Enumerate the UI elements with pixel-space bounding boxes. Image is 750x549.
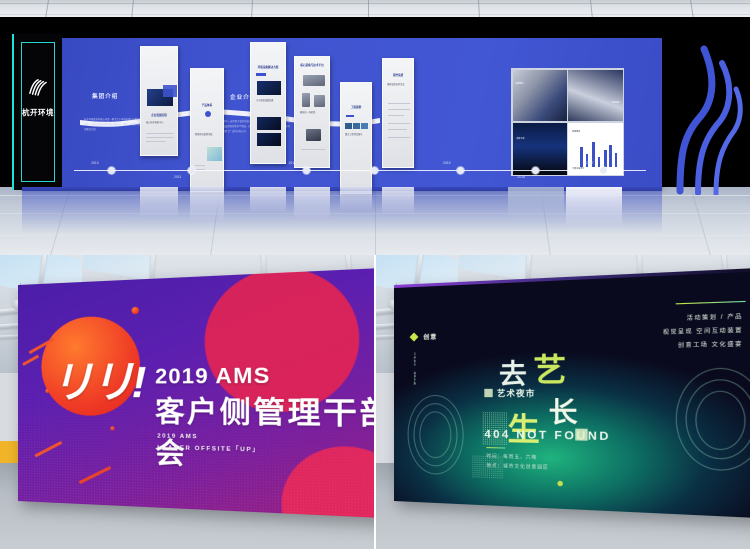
media-cell-4: 数据报表 年度业绩增长 xyxy=(568,123,622,175)
banner-left: リリ! 2019 AMS 客户侧管理干部会 2019 AMS LEADER OF… xyxy=(18,267,374,518)
content-panel-5-title: 工程案例 xyxy=(341,105,371,109)
banner-right-tag-swatch xyxy=(484,389,492,397)
content-panel-4: 核心装备与技术平台 模块化一体机组 xyxy=(294,56,330,168)
content-panel-2-title: 产品体系 xyxy=(191,103,223,107)
content-panel-5: 工程案例 重点工程项目展示 xyxy=(340,82,372,194)
timeline-year: 2017 xyxy=(586,161,594,165)
timeline-dot xyxy=(457,167,464,174)
media-grid: 品牌视觉 活动现场 夜景工程 数据报表 年度业绩增长 xyxy=(511,68,624,176)
media-cell-2-caption: 活动现场 xyxy=(611,102,619,105)
brand-logo-panel: 杭开环境 xyxy=(12,34,62,190)
banner-right-contour-c xyxy=(419,411,451,458)
banner-right-corner-line2: 视觉呈现 空间互动装置 xyxy=(663,326,743,336)
banner-right-accent-dot xyxy=(557,481,563,487)
media-cell-1-caption: 品牌视觉 xyxy=(516,83,524,86)
content-panel-3-caption: 污水处理成套装备 xyxy=(256,99,282,103)
showroom-floor xyxy=(0,187,750,255)
banner-right-corner-line3: 创意工场 文化盛宴 xyxy=(678,340,743,349)
content-panel-3: 环保设备解决方案 污水处理成套装备 xyxy=(250,42,286,164)
wave-sculpture xyxy=(670,43,744,195)
timeline-dot xyxy=(108,167,115,174)
timeline-dot xyxy=(532,167,539,174)
timeline-year: 2011 xyxy=(174,175,181,179)
media-cell-3-caption: 夜景工程 xyxy=(517,138,525,141)
banner-left-dot-tiny-a xyxy=(45,389,49,393)
content-panel-6-title: 荣誉资质 xyxy=(383,73,413,77)
content-panel-6: 荣誉资质 国家高新技术企业 xyxy=(382,58,414,168)
banner-left-surface: リリ! 2019 AMS 客户侧管理干部会 2019 AMS LEADER OF… xyxy=(18,267,374,518)
banner-right-surface: 活动策划 / 产品 视觉呈现 空间互动装置 创意工场 文化盛宴 创意 艺术夜市 … xyxy=(394,267,750,518)
banner-right-title-char-1: 去 xyxy=(499,353,527,392)
banner-right-foot-rule xyxy=(486,447,505,448)
content-panel-2: 产品体系 智能环境监测系统 xyxy=(190,68,224,192)
hall-right: 活动策划 / 产品 视觉呈现 空间互动装置 创意工场 文化盛宴 创意 艺术夜市 … xyxy=(376,255,750,549)
banner-right-accent-line xyxy=(676,301,746,305)
banner-left-logo-glyph: リリ! xyxy=(51,347,143,411)
banner-right-title-char-2: 艺 xyxy=(533,344,566,391)
banner-right: 活动策划 / 产品 视觉呈现 空间互动装置 创意工场 文化盛宴 创意 艺术夜市 … xyxy=(394,267,750,518)
banner-right-headline-swatch xyxy=(575,429,587,441)
logo-wordmark: 杭开环境 xyxy=(14,109,62,117)
media-cell-1: 品牌视觉 xyxy=(513,70,567,122)
media-cell-3: 夜景工程 xyxy=(513,123,567,175)
screenshot-root: 杭开环境 集团介绍 杭开环境股份有限公司是一家专注于环境治理与节能技术服务的高新… xyxy=(0,0,750,549)
content-panel-4-title: 核心装备与技术平台 xyxy=(295,63,329,67)
timeline-axis: 2010 2011 2013 2014 2015 2016 2017 xyxy=(74,170,646,171)
timeline-year: 2016 xyxy=(517,175,525,179)
content-panel-4-caption: 模块化一体机组 xyxy=(300,111,327,115)
banner-right-contour-f xyxy=(695,391,745,451)
banner-right-title-char-3: 生 xyxy=(507,403,539,450)
content-panel-1-title: 企业发展历程 xyxy=(141,113,177,117)
hall-left: リリ! 2019 AMS 客户侧管理干部会 2019 AMS LEADER OF… xyxy=(0,255,374,549)
timeline-dot xyxy=(371,167,378,174)
timeline-year: 2010 xyxy=(91,161,99,165)
timeline-dot xyxy=(303,167,310,174)
banner-right-title-char-4: 长 xyxy=(549,391,578,431)
banner-mockups-row: リリ! 2019 AMS 客户侧管理干部会 2019 AMS LEADER OF… xyxy=(0,255,750,549)
timeline-year: 2014 xyxy=(357,175,365,179)
wave-mark-icon xyxy=(27,78,49,96)
content-panel-1: 企业发展历程 核心技术研发中心 xyxy=(140,46,178,156)
blue-exhibition-wall: 杭开环境 集团介绍 杭开环境股份有限公司是一家专注于环境治理与节能技术服务的高新… xyxy=(22,38,662,187)
corporate-wall-scene: 杭开环境 集团介绍 杭开环境股份有限公司是一家专注于环境治理与节能技术服务的高新… xyxy=(0,17,750,255)
timeline-year: 2013 xyxy=(289,161,297,165)
banner-left-dot-tiny-b xyxy=(110,426,114,430)
content-panel-1-caption: 核心技术研发中心 xyxy=(146,121,174,125)
media-cell-2: 活动现场 xyxy=(568,70,622,122)
banner-right-headline-en: 404 NOT FOUND xyxy=(484,428,611,443)
banner-right-corner-line1: 活动策划 / 产品 xyxy=(687,312,743,322)
content-panel-2-caption: 智能环境监测系统 xyxy=(195,133,221,137)
media-cell-4-caption: 数据报表 xyxy=(572,131,580,134)
content-panel-3-title: 环保设备解决方案 xyxy=(251,65,285,69)
content-panel-5-caption: 重点工程项目展示 xyxy=(345,133,369,137)
heading-group-intro: 集团介绍 xyxy=(92,92,118,100)
banner-left-title-en: 2019 AMS xyxy=(155,364,270,390)
banner-right-logo-text: 创意 xyxy=(423,332,437,341)
content-panel-6-caption: 国家高新技术企业 xyxy=(387,83,411,87)
timeline-year: 2015 xyxy=(443,161,451,165)
top-ceiling-strip xyxy=(0,0,750,17)
banner-right-logo-badge xyxy=(410,332,419,341)
banner-right-tag: 艺术夜市 xyxy=(497,388,536,400)
banner-left-subtitle-line1: 2019 AMS xyxy=(157,433,198,440)
